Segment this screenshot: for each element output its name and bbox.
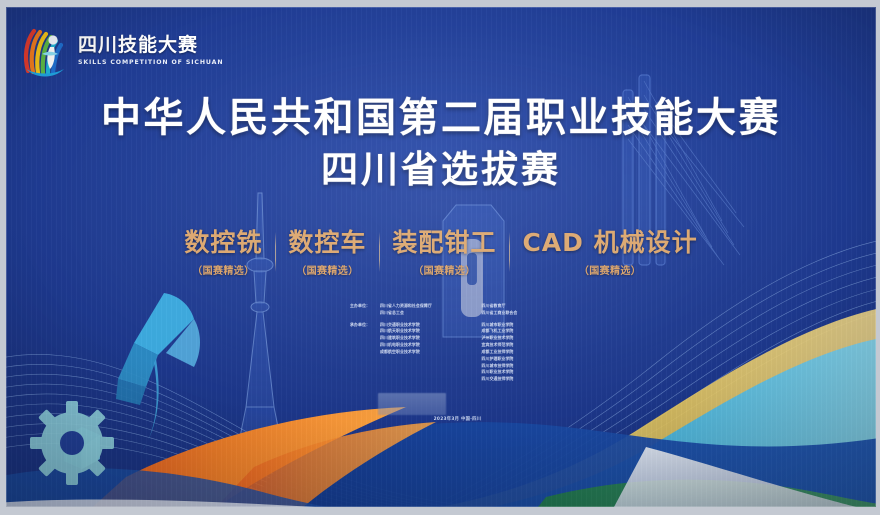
rocket-icon	[116, 293, 200, 451]
gear-icon	[30, 401, 114, 485]
cohost-right-column: 四川城市职业学院 成都飞机工业学院 泸州职业技术学院 宜宾技术师范学院 成都工业…	[468, 322, 566, 383]
host-right-column: 四川省教育厅 四川省工商业联合会	[468, 303, 566, 317]
cohost-unit: 四川职业技术学院	[482, 369, 566, 376]
cohost-unit: 四川城市技师学院	[482, 363, 566, 370]
logo-english-name: SKILLS COMPETITION OF SICHUAN	[78, 59, 223, 66]
category-subtitle: （国赛精选）	[579, 262, 641, 277]
category-item-3: CAD 机械设计 （国赛精选）	[509, 229, 710, 277]
cohost-unit: 四川建筑职业技术学院	[380, 335, 464, 342]
category-subtitle: （国赛精选）	[296, 262, 358, 277]
main-title-line2: 四川省选拔赛	[6, 148, 876, 192]
cohost-unit: 四川航天职业技术学院	[380, 328, 464, 335]
logo-chinese-name: 四川技能大赛	[78, 36, 223, 56]
category-subtitle: （国赛精选）	[192, 262, 254, 277]
cohost-unit: 成都航空职业技术学院	[380, 349, 464, 356]
cohost-unit: 四川护理职业学院	[482, 356, 566, 363]
rainbow-swoosh-figure-icon	[20, 23, 72, 79]
title-group: 中华人民共和国第二届职业技能大赛 四川省选拔赛	[6, 95, 876, 193]
date-location-line: 2023年3月 中国·四川	[350, 416, 565, 422]
obscured-text-patch	[378, 393, 446, 415]
category-name: CAD 机械设计	[522, 229, 697, 258]
host-unit: 四川省总工会	[380, 310, 464, 317]
category-subtitle: （国赛精选）	[413, 262, 475, 277]
cohost-unit: 四川交通技师学院	[482, 376, 566, 383]
cohost-unit: 四川城市职业学院	[482, 322, 566, 329]
cohost-block: 承办单位： 四川交通职业技术学院 四川航天职业技术学院 四川建筑职业技术学院 四…	[350, 322, 565, 383]
cohost-unit: 四川交通职业技术学院	[380, 322, 464, 329]
screenshot-root: 四川技能大赛 SKILLS COMPETITION OF SICHUAN 中华人…	[0, 0, 880, 515]
event-logo: 四川技能大赛 SKILLS COMPETITION OF SICHUAN	[20, 20, 185, 82]
cohost-left-column: 四川交通职业技术学院 四川航天职业技术学院 四川建筑职业技术学院 四川机电职业技…	[380, 322, 464, 383]
host-unit: 四川省人力资源和社会保障厅	[380, 303, 464, 310]
category-item-0: 数控铣 （国赛精选）	[171, 229, 275, 277]
cohost-unit: 泸州职业技术学院	[482, 335, 566, 342]
host-block: 主办单位： 四川省人力资源和社会保障厅 四川省总工会 四川省教育厅 四川省工商业…	[350, 303, 565, 317]
cohost-unit: 成都飞机工业学院	[482, 328, 566, 335]
category-name: 装配钳工	[392, 229, 496, 258]
category-item-1: 数控车 （国赛精选）	[275, 229, 379, 277]
organizer-credits: 主办单位： 四川省人力资源和社会保障厅 四川省总工会 四川省教育厅 四川省工商业…	[350, 303, 565, 388]
main-title-line1: 中华人民共和国第二届职业技能大赛	[6, 95, 876, 142]
cohost-unit: 宜宾技术师范学院	[482, 342, 566, 349]
category-list: 数控铣 （国赛精选） 数控车 （国赛精选） 装配钳工 （国赛精选） CAD 机械…	[6, 229, 876, 277]
event-banner: 四川技能大赛 SKILLS COMPETITION OF SICHUAN 中华人…	[6, 7, 876, 507]
category-name: 数控车	[288, 229, 366, 258]
category-name: 数控铣	[184, 229, 262, 258]
category-item-2: 装配钳工 （国赛精选）	[379, 229, 509, 277]
host-unit: 四川省教育厅	[482, 303, 566, 310]
host-label: 主办单位：	[350, 303, 380, 317]
cohost-label: 承办单位：	[350, 322, 380, 383]
cohost-unit: 四川机电职业技术学院	[380, 342, 464, 349]
cohost-unit: 成都工业技师学院	[482, 349, 566, 356]
host-unit: 四川省工商业联合会	[482, 310, 566, 317]
host-left-column: 四川省人力资源和社会保障厅 四川省总工会	[380, 303, 464, 317]
